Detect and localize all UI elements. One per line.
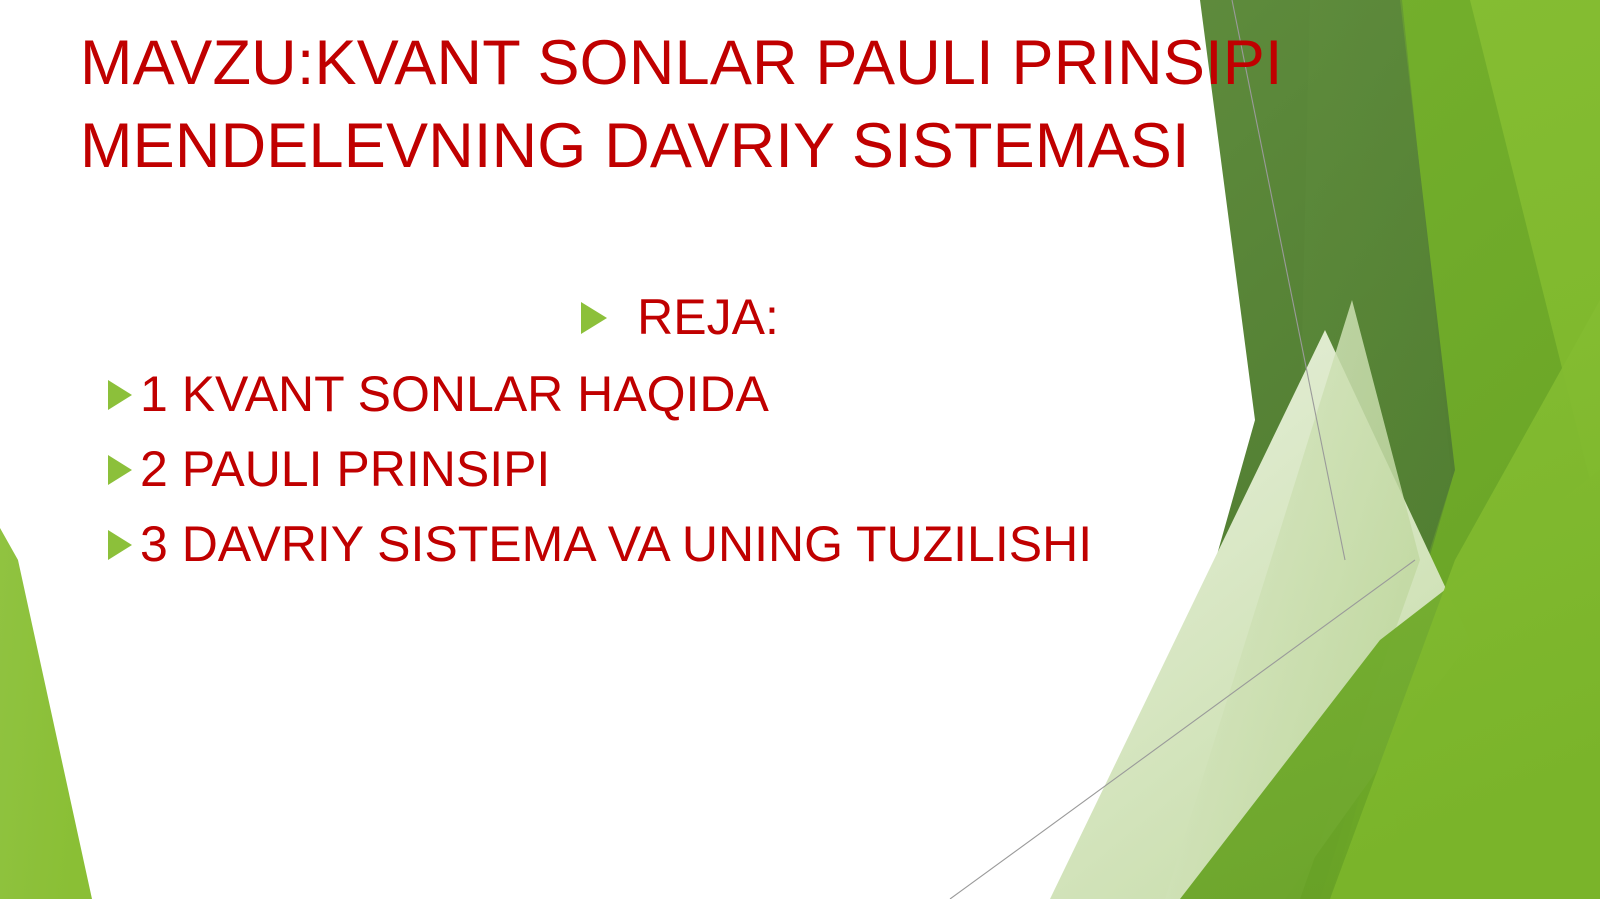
list-item-label: 3 DAVRIY SISTEMA VA UNING TUZILISHI <box>140 517 1092 572</box>
triangle-bullet-icon <box>108 380 132 410</box>
list-item-label: 1 KVANT SONLAR HAQIDA <box>140 367 769 422</box>
list-item-label: 2 PAULI PRINSIPI <box>140 442 550 497</box>
triangle-bullet-icon <box>108 530 132 560</box>
body-heading-row: REJA: <box>80 290 1210 345</box>
presentation-slide: MAVZU:KVANT SONLAR PAULI PRINSIPI MENDEL… <box>0 0 1600 899</box>
slide-body: REJA: 1 KVANT SONLAR HAQIDA 2 PAULI PRIN… <box>80 290 1210 592</box>
title-line-2: MENDELEVNING DAVRIY SISTEMASI <box>80 105 1310 188</box>
triangle-bullet-icon <box>581 302 607 334</box>
title-line-1: MAVZU:KVANT SONLAR PAULI PRINSIPI <box>80 22 1310 105</box>
list-item: 3 DAVRIY SISTEMA VA UNING TUZILISHI <box>108 517 1210 572</box>
slide-title: MAVZU:KVANT SONLAR PAULI PRINSIPI MENDEL… <box>80 22 1310 188</box>
triangle-bullet-icon <box>108 455 132 485</box>
list-item: 1 KVANT SONLAR HAQIDA <box>108 367 1210 422</box>
slide-content: MAVZU:KVANT SONLAR PAULI PRINSIPI MENDEL… <box>0 0 1600 899</box>
body-heading-label: REJA: <box>637 290 779 345</box>
list-item: 2 PAULI PRINSIPI <box>108 442 1210 497</box>
